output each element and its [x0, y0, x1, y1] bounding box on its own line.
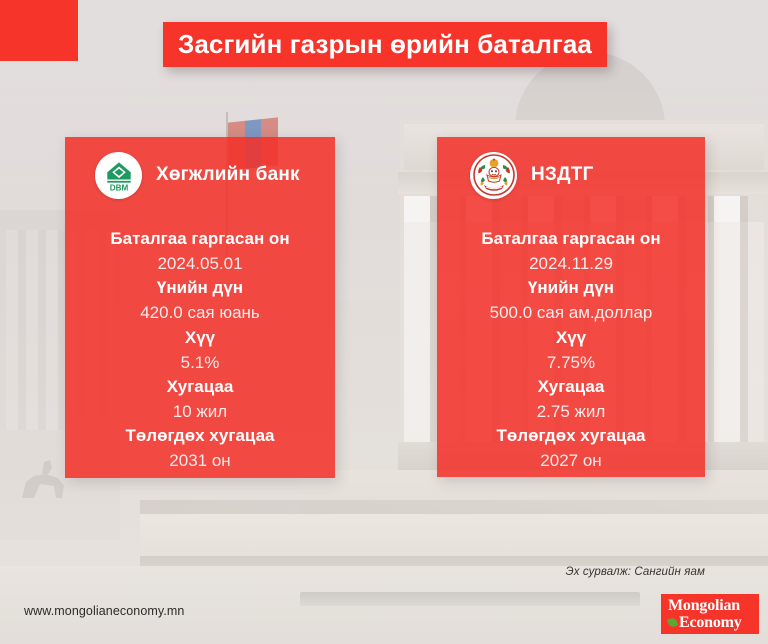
row-label: Хүү — [437, 326, 705, 350]
leaf-icon — [667, 617, 679, 629]
page-title-banner: Засгийн газрын өрийн баталгаа — [163, 22, 607, 67]
card-org-name: НЗДТГ — [531, 164, 594, 186]
mongolian-economy-logo: Mongolian Economy — [661, 594, 759, 634]
infographic-canvas: Засгийн газрын өрийн баталгаа DBM Хөгжли… — [0, 0, 768, 644]
guarantee-card-ulaanbaatar-governor-office: НЗДТГ Баталгаа гаргасан он 2024.11.29 Үн… — [437, 137, 705, 477]
row-value: 10 жил — [65, 399, 335, 424]
website-url: www.mongolianeconomy.mn — [24, 604, 184, 618]
ulaanbaatar-emblem-icon — [472, 153, 516, 197]
guarantee-card-development-bank: DBM Хөгжлийн банк Баталгаа гаргасан он 2… — [65, 137, 335, 478]
row-value: 2024.05.01 — [65, 251, 335, 276]
card-data-rows: Баталгаа гаргасан он 2024.11.29 Үнийн дү… — [437, 213, 705, 473]
logo-line-2: Economy — [679, 614, 742, 631]
dbm-logo: DBM — [95, 152, 142, 199]
row-value: 2031 он — [65, 448, 335, 473]
row-label: Хугацаа — [437, 375, 705, 399]
row-label: Төлөгдөх хугацаа — [437, 424, 705, 448]
row-label: Төлөгдөх хугацаа — [65, 424, 335, 448]
page-title: Засгийн газрын өрийн баталгаа — [178, 29, 592, 60]
row-value: 500.0 сая ам.доллар — [437, 300, 705, 325]
row-value: 2024.11.29 — [437, 251, 705, 276]
card-header: НЗДТГ — [437, 137, 705, 213]
logo-line-1: Mongolian — [668, 597, 759, 614]
row-label: Хүү — [65, 326, 335, 350]
row-label: Үнийн дүн — [65, 276, 335, 300]
row-value: 7.75% — [437, 350, 705, 375]
row-value: 5.1% — [65, 350, 335, 375]
ulaanbaatar-emblem — [470, 152, 517, 199]
dbm-logo-icon: DBM — [101, 157, 137, 193]
row-label: Хугацаа — [65, 375, 335, 399]
row-label: Баталгаа гаргасан он — [65, 227, 335, 251]
row-value: 2027 он — [437, 448, 705, 473]
row-value: 420.0 сая юань — [65, 300, 335, 325]
dbm-logo-text: DBM — [109, 183, 128, 192]
card-org-name: Хөгжлийн банк — [156, 164, 300, 186]
corner-accent-block — [0, 0, 78, 61]
row-label: Баталгаа гаргасан он — [437, 227, 705, 251]
row-label: Үнийн дүн — [437, 276, 705, 300]
source-credit: Эх сурвалж: Сангийн яам — [566, 566, 705, 578]
row-value: 2.75 жил — [437, 399, 705, 424]
card-data-rows: Баталгаа гаргасан он 2024.05.01 Үнийн дү… — [65, 213, 335, 473]
card-header: DBM Хөгжлийн банк — [65, 137, 335, 213]
